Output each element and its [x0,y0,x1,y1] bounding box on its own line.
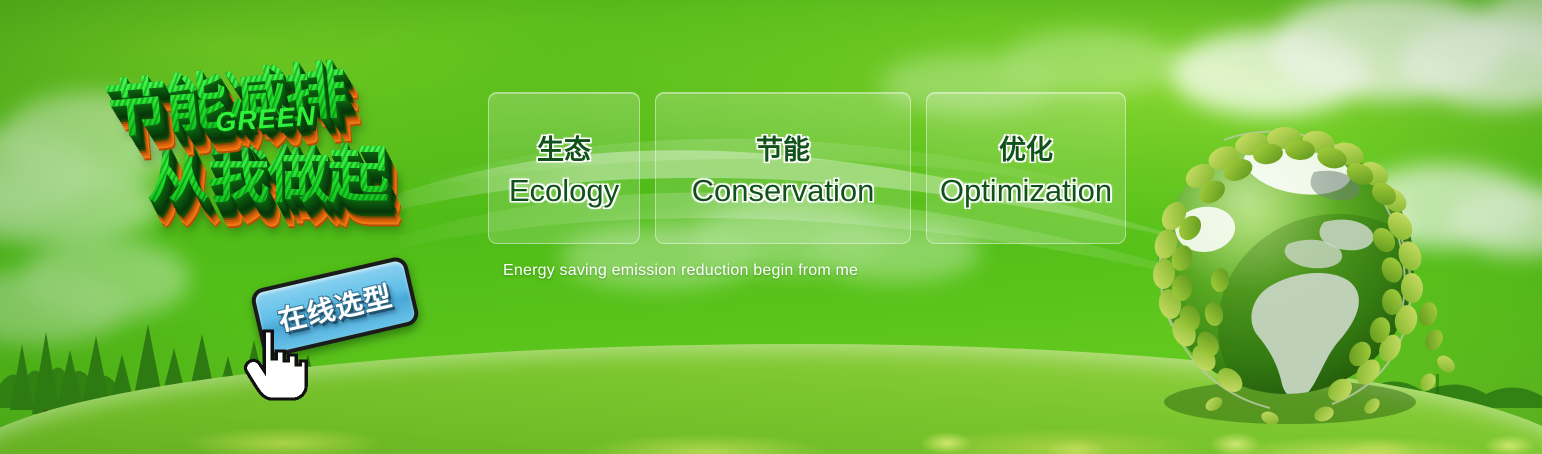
feature-card-cn-label: 生态 [537,128,591,167]
feature-card-conservation[interactable]: 节能 Conservation [655,92,911,244]
headline-3d: 节能减排 节能减排 GREEN 从我做起 从我做起 [91,20,490,282]
green-promo-banner: 节能减排 节能减排 GREEN 从我做起 从我做起 在线选型 生态 Ecolog… [0,0,1542,454]
feature-card-optimization[interactable]: 优化 Optimization [926,92,1126,244]
banner-tagline: Energy saving emission reduction begin f… [503,262,858,280]
headline-line2-face: 从我做起 [147,138,387,211]
feature-card-ecology[interactable]: 生态 Ecology [488,92,640,244]
feature-cards: 生态 Ecology 节能 Conservation 优化 Optimizati… [488,92,1126,244]
feature-card-en-label: Optimization [940,173,1112,209]
feature-card-cn-label: 节能 [756,128,810,167]
feature-card-en-label: Ecology [509,173,619,209]
leafy-green-globe-icon [1128,118,1458,438]
feature-card-en-label: Conservation [692,173,875,209]
online-selection-label: 在线选型 [274,274,396,339]
feature-card-cn-label: 优化 [999,128,1053,167]
